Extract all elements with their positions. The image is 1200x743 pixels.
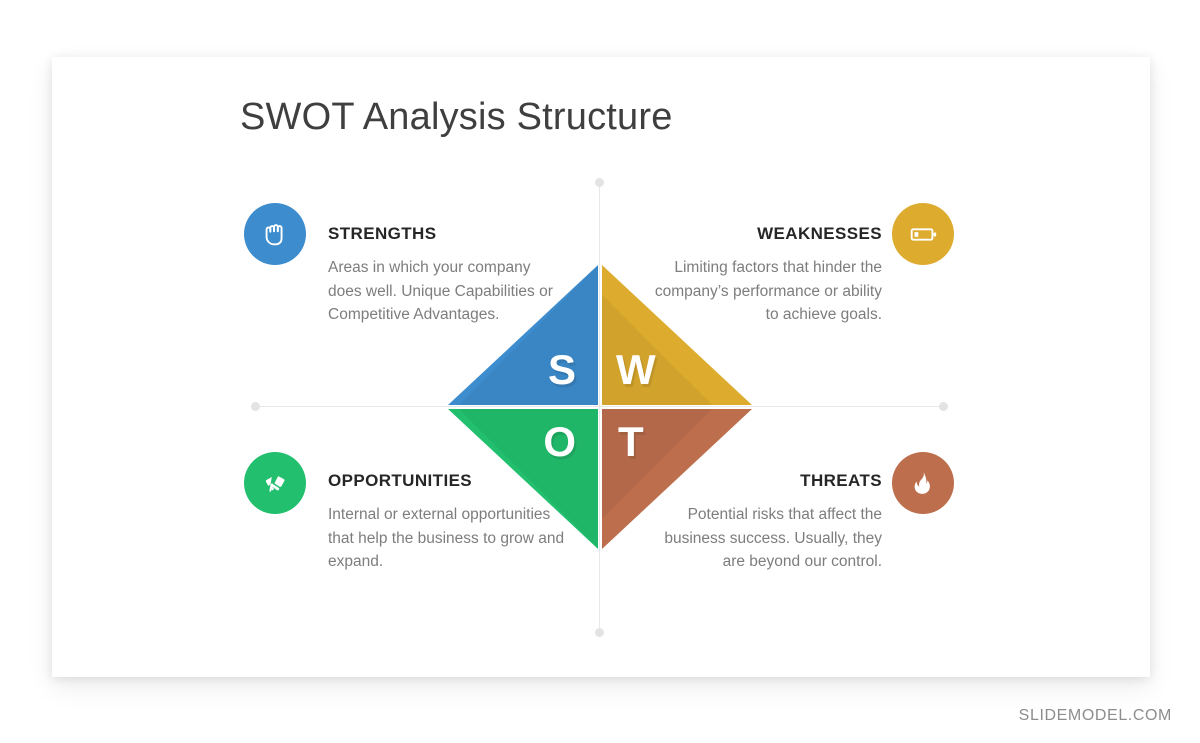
triangle-letter-s: S <box>548 349 576 391</box>
handshake-icon <box>260 468 290 498</box>
slidemodel-watermark: SLIDEMODEL.COM <box>1019 707 1172 725</box>
weaknesses-description: Limiting factors that hinder the company… <box>652 256 882 327</box>
quadrant-opportunities: OPPORTUNITIES Internal or external oppor… <box>328 471 568 574</box>
opportunities-description: Internal or external opportunities that … <box>328 503 568 574</box>
quadrant-strengths: STRENGTHS Areas in which your company do… <box>328 224 558 327</box>
raised-fist-icon <box>260 219 290 249</box>
quadrant-weaknesses: WEAKNESSES Limiting factors that hinder … <box>652 224 882 327</box>
strengths-heading: STRENGTHS <box>328 224 558 244</box>
weaknesses-icon-badge[interactable] <box>892 203 954 265</box>
axis-endpoint-dot-right <box>939 402 948 411</box>
flame-icon <box>909 469 937 497</box>
threats-icon-badge[interactable] <box>892 452 954 514</box>
threats-heading: THREATS <box>648 471 882 491</box>
triangle-letter-w: W <box>616 349 656 391</box>
page-title: SWOT Analysis Structure <box>240 96 673 139</box>
threats-description: Potential risks that affect the business… <box>648 503 882 574</box>
strengths-icon-badge[interactable] <box>244 203 306 265</box>
axis-endpoint-dot-left <box>251 402 260 411</box>
axis-endpoint-dot-bottom <box>595 628 604 637</box>
axis-endpoint-dot-top <box>595 178 604 187</box>
triangle-letter-t: T <box>618 421 644 463</box>
weaknesses-heading: WEAKNESSES <box>652 224 882 244</box>
opportunities-icon-badge[interactable] <box>244 452 306 514</box>
screenshot-canvas: SWOT Analysis Structure S W O <box>0 0 1200 743</box>
triangle-letter-o: O <box>543 421 576 463</box>
quadrant-threats: THREATS Potential risks that affect the … <box>648 471 882 574</box>
slide-canvas: SWOT Analysis Structure S W O <box>52 57 1150 677</box>
strengths-description: Areas in which your company does well. U… <box>328 256 558 327</box>
opportunities-heading: OPPORTUNITIES <box>328 471 568 491</box>
low-battery-icon <box>907 218 939 250</box>
